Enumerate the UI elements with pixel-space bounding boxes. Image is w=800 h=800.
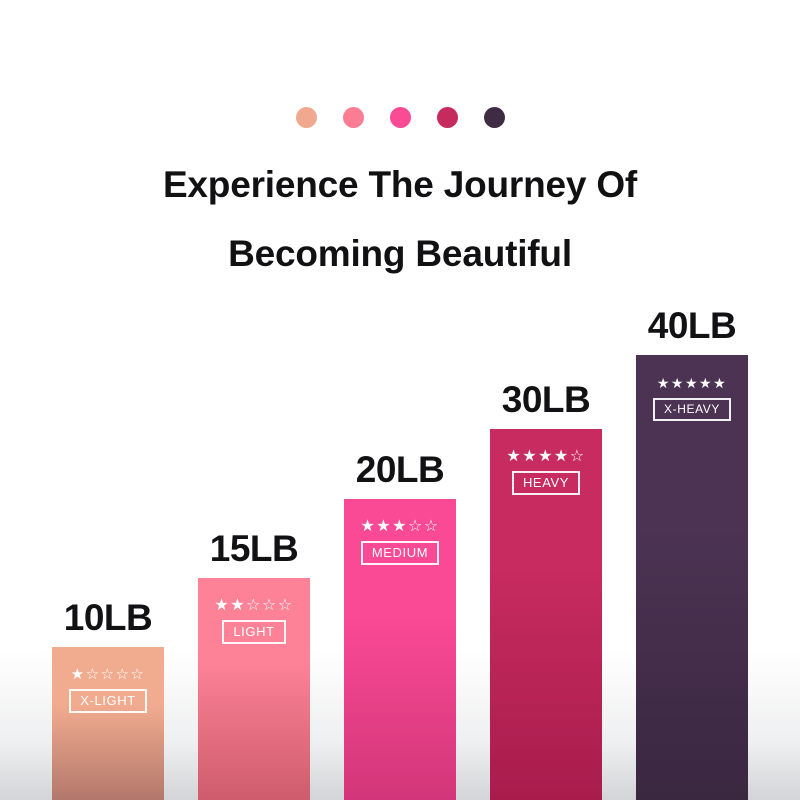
bar-badge-x-heavy: ★★★★★X-HEAVY — [636, 377, 748, 421]
bar-badge-heavy: ★★★★☆HEAVY — [490, 448, 602, 495]
bar-weight-label-medium: 20LB — [356, 449, 444, 491]
bar-tag-medium: MEDIUM — [361, 541, 439, 565]
bar-weight-label-heavy: 30LB — [502, 379, 590, 421]
star-rating-light: ★★☆☆☆ — [214, 597, 293, 613]
star-rating-medium: ★★★☆☆ — [360, 518, 439, 534]
star-rating-x-heavy: ★★★★★ — [657, 377, 727, 391]
bar-badge-light: ★★☆☆☆LIGHT — [198, 597, 310, 644]
bar-weight-label-x-heavy: 40LB — [648, 305, 736, 347]
bar-x-heavy[interactable] — [636, 355, 748, 800]
bar-badge-medium: ★★★☆☆MEDIUM — [344, 518, 456, 565]
bar-group-light[interactable]: 15LB★★☆☆☆LIGHT — [198, 578, 310, 800]
bar-tag-x-light: X-LIGHT — [69, 689, 146, 713]
bar-group-heavy[interactable]: 30LB★★★★☆HEAVY — [490, 429, 602, 800]
bar-group-medium[interactable]: 20LB★★★☆☆MEDIUM — [344, 499, 456, 800]
bar-tag-heavy: HEAVY — [512, 471, 580, 495]
bar-weight-label-x-light: 10LB — [64, 597, 152, 639]
bar-tag-light: LIGHT — [222, 620, 285, 644]
promo-banner: Experience The Journey Of Becoming Beaut… — [0, 0, 800, 800]
resistance-bar-chart: 10LB★☆☆☆☆X-LIGHT15LB★★☆☆☆LIGHT20LB★★★☆☆M… — [0, 0, 800, 800]
bar-group-x-heavy[interactable]: 40LB★★★★★X-HEAVY — [636, 355, 748, 800]
star-rating-x-light: ★☆☆☆☆ — [71, 667, 146, 682]
bar-badge-x-light: ★☆☆☆☆X-LIGHT — [52, 667, 164, 713]
bar-tag-x-heavy: X-HEAVY — [653, 398, 731, 421]
star-rating-heavy: ★★★★☆ — [506, 448, 585, 464]
bar-group-x-light[interactable]: 10LB★☆☆☆☆X-LIGHT — [52, 647, 164, 800]
bar-weight-label-light: 15LB — [210, 528, 298, 570]
